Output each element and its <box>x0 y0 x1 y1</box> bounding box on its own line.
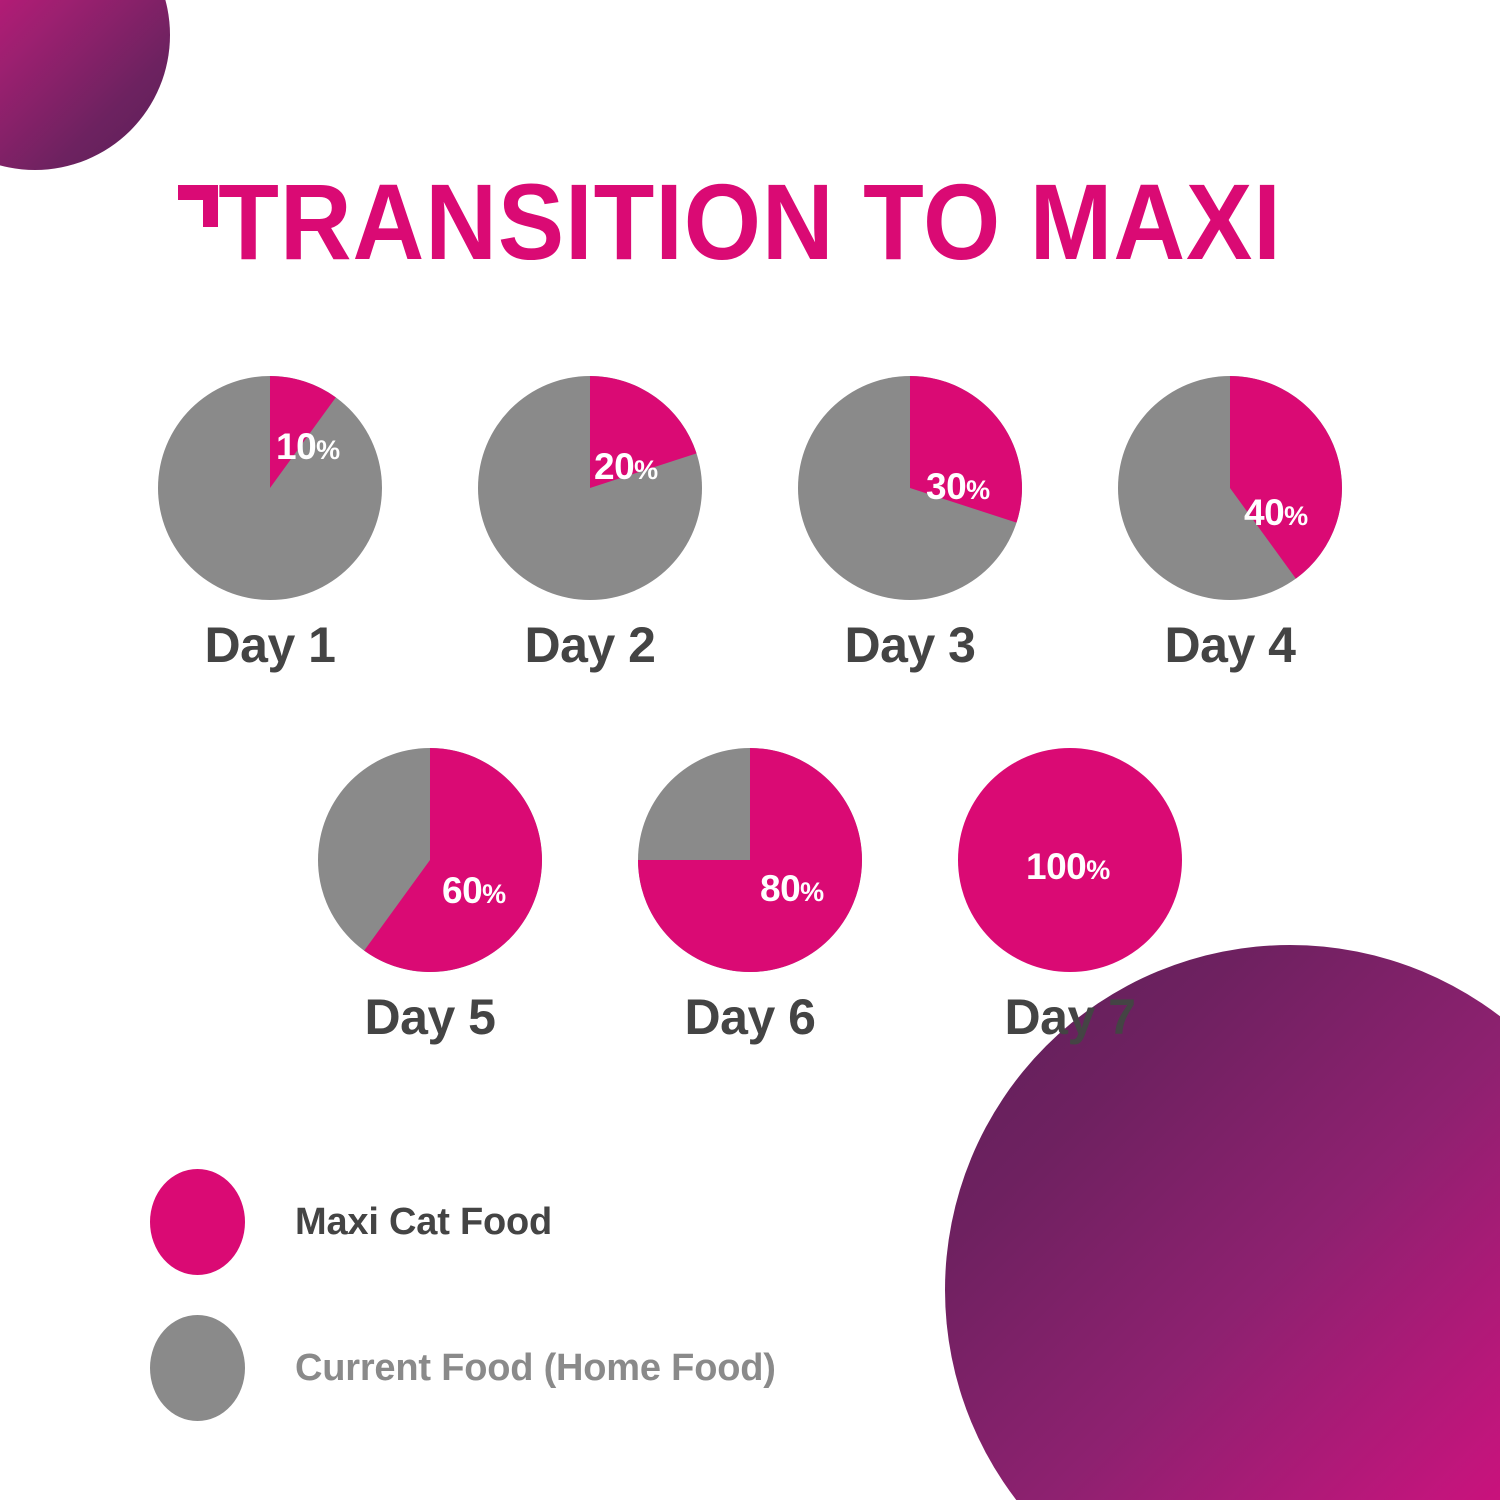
day-label: Day 1 <box>205 620 336 670</box>
pie-row-first: 10%Day 120%Day 230%Day 340%Day 4 <box>0 376 1500 670</box>
pie-row-second: 60%Day 580%Day 6100%Day 7 <box>0 748 1500 1042</box>
legend-item: Maxi Cat Food <box>150 1168 776 1276</box>
pie-chart-cell: 80%Day 6 <box>590 748 910 1042</box>
pie-graphic <box>478 376 702 600</box>
day-label: Day 6 <box>685 992 816 1042</box>
pie-chart-day-2: 20% <box>478 376 702 600</box>
percentage-number: 80 <box>760 868 800 909</box>
pie-percentage-label: 40% <box>1244 494 1308 531</box>
day-label: Day 4 <box>1165 620 1296 670</box>
pie-chart-cell: 100%Day 7 <box>910 748 1230 1042</box>
percentage-number: 10 <box>276 426 316 467</box>
percent-sign: % <box>800 877 824 907</box>
pie-chart-day-6: 80% <box>638 748 862 972</box>
infographic-canvas: TRANSITION TO MAXI 10%Day 120%Day 230%Da… <box>0 0 1500 1500</box>
legend-swatch-icon <box>150 1169 245 1275</box>
percent-sign: % <box>966 475 990 505</box>
percent-sign: % <box>482 879 506 909</box>
pie-graphic <box>158 376 382 600</box>
legend-item: Current Food (Home Food) <box>150 1314 776 1422</box>
pie-percentage-label: 60% <box>442 872 506 909</box>
pie-chart-day-3: 30% <box>798 376 1022 600</box>
pie-graphic <box>1118 376 1342 600</box>
page-title: TRANSITION TO MAXI <box>60 168 1440 276</box>
legend-item-label: Maxi Cat Food <box>295 1203 552 1241</box>
legend-swatch-icon <box>150 1315 245 1421</box>
percent-sign: % <box>1086 855 1110 885</box>
percentage-number: 20 <box>594 446 634 487</box>
day-label: Day 5 <box>365 992 496 1042</box>
pie-chart-cell: 30%Day 3 <box>750 376 1070 670</box>
day-label: Day 2 <box>525 620 656 670</box>
percentage-number: 60 <box>442 870 482 911</box>
legend-item-label: Current Food (Home Food) <box>295 1349 776 1387</box>
day-label: Day 7 <box>1005 992 1136 1042</box>
percent-sign: % <box>634 455 658 485</box>
legend: Maxi Cat FoodCurrent Food (Home Food) <box>150 1168 776 1422</box>
pie-chart-cell: 40%Day 4 <box>1070 376 1390 670</box>
pie-chart-day-4: 40% <box>1118 376 1342 600</box>
pie-chart-cell: 20%Day 2 <box>430 376 750 670</box>
pie-percentage-label: 30% <box>926 468 990 505</box>
pie-percentage-label: 100% <box>1026 848 1110 885</box>
pie-chart-cell: 10%Day 1 <box>110 376 430 670</box>
pie-percentage-label: 20% <box>594 448 658 485</box>
pie-percentage-label: 10% <box>276 428 340 465</box>
percent-sign: % <box>316 435 340 465</box>
percentage-number: 100 <box>1026 846 1086 887</box>
percent-sign: % <box>1284 501 1308 531</box>
pie-graphic <box>638 748 862 972</box>
pie-percentage-label: 80% <box>760 870 824 907</box>
pie-chart-day-1: 10% <box>158 376 382 600</box>
pie-chart-day-7: 100% <box>958 748 1182 972</box>
pie-chart-cell: 60%Day 5 <box>270 748 590 1042</box>
pie-chart-day-5: 60% <box>318 748 542 972</box>
decorative-corner-blob-top-left <box>0 0 170 170</box>
percentage-number: 40 <box>1244 492 1284 533</box>
percentage-number: 30 <box>926 466 966 507</box>
day-label: Day 3 <box>845 620 976 670</box>
pie-graphic <box>318 748 542 972</box>
